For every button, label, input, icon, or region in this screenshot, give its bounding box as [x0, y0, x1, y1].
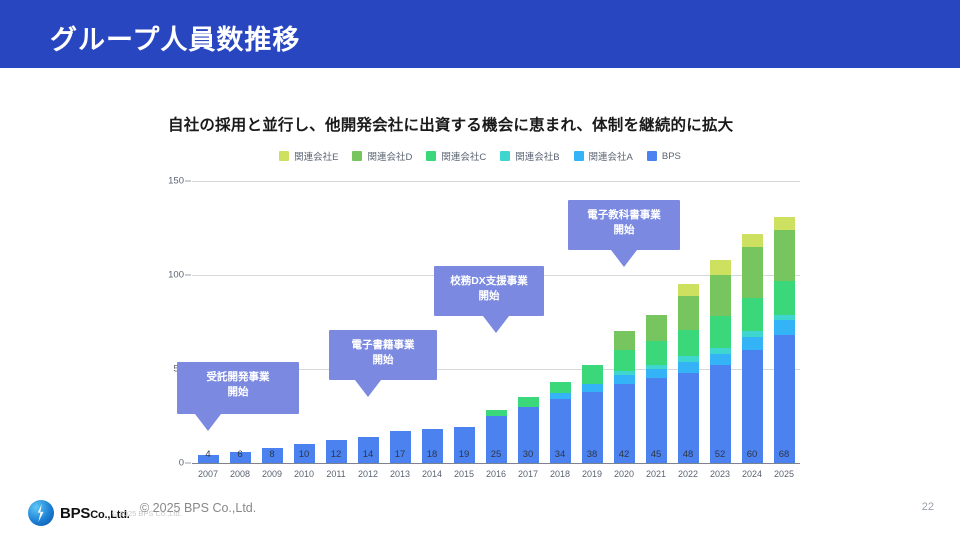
- x-axis-tick-label: 2023: [710, 469, 730, 479]
- stacked-bar[interactable]: 17: [390, 431, 411, 463]
- copyright-text: © 2025 BPS Co.,Ltd.: [140, 501, 260, 517]
- x-axis-tick-label: 2022: [678, 469, 698, 479]
- legend-item[interactable]: 関連会社D: [352, 149, 412, 163]
- legend-label: 関連会社A: [589, 149, 633, 163]
- bar-segment[interactable]: [742, 298, 763, 332]
- stacked-bar[interactable]: 34: [550, 382, 571, 463]
- bar-segment[interactable]: [742, 234, 763, 247]
- stacked-bar[interactable]: 25: [486, 410, 507, 463]
- legend-label: BPS: [662, 151, 681, 162]
- legend-label: 関連会社C: [441, 149, 486, 163]
- legend-item[interactable]: 関連会社C: [426, 149, 486, 163]
- bar-segment[interactable]: [774, 335, 795, 463]
- x-axis-tick-label: 2024: [742, 469, 762, 479]
- bar-segment[interactable]: [774, 320, 795, 335]
- bar-segment[interactable]: [454, 427, 475, 463]
- bar-segment[interactable]: [710, 260, 731, 275]
- chart-area: 050100150 420076200882009102010122011142…: [160, 170, 800, 490]
- stacked-bar[interactable]: 18: [422, 429, 443, 463]
- chart-subtitle: 自社の採用と並行し、他開発会社に出資する機会に恵まれ、体制を継続的に拡大: [168, 113, 733, 135]
- page-number: 22: [922, 501, 934, 513]
- x-axis-tick-label: 2020: [614, 469, 634, 479]
- annotation-pointer-icon: [611, 250, 637, 267]
- bar-column[interactable]: 302017: [512, 181, 544, 463]
- y-axis-tick-mark: [185, 181, 191, 182]
- bar-segment[interactable]: [614, 384, 635, 463]
- bar-segment[interactable]: [710, 316, 731, 348]
- x-axis-tick-label: 2016: [486, 469, 506, 479]
- stacked-bar[interactable]: 68: [774, 217, 795, 463]
- annotation-pointer-icon: [195, 414, 221, 431]
- legend-label: 関連会社E: [294, 149, 338, 163]
- bps-globe-icon: [28, 500, 54, 526]
- bar-column[interactable]: 522023: [704, 181, 736, 463]
- bar-segment[interactable]: [646, 369, 667, 378]
- stacked-bar[interactable]: 42: [614, 331, 635, 463]
- bar-segment[interactable]: [646, 341, 667, 365]
- bar-segment[interactable]: [422, 429, 443, 463]
- stacked-bar[interactable]: 45: [646, 315, 667, 463]
- x-axis-tick-label: 2025: [774, 469, 794, 479]
- x-axis-baseline: [192, 463, 800, 465]
- bar-column[interactable]: 102010: [288, 181, 320, 463]
- bar-segment[interactable]: [742, 247, 763, 298]
- bar-segment[interactable]: [582, 384, 603, 392]
- bar-segment[interactable]: [774, 281, 795, 315]
- annotation-callout: 電子書籍事業開始: [329, 330, 437, 380]
- bar-segment[interactable]: [582, 365, 603, 384]
- bar-segment[interactable]: [518, 397, 539, 406]
- y-axis-tick-mark: [185, 275, 191, 276]
- stacked-bar[interactable]: 8: [262, 448, 283, 463]
- bar-column[interactable]: 82009: [256, 181, 288, 463]
- bar-segment[interactable]: [742, 337, 763, 350]
- bar-column[interactable]: 62008: [224, 181, 256, 463]
- x-axis-tick-label: 2007: [198, 469, 218, 479]
- bar-segment[interactable]: [710, 354, 731, 365]
- annotation-line-1: 電子教科書事業: [587, 209, 661, 221]
- chart-legend: 関連会社E関連会社D関連会社C関連会社B関連会社ABPS: [160, 149, 800, 163]
- annotation-pointer-icon: [483, 316, 509, 333]
- logo-brand: BPS: [60, 505, 90, 522]
- stacked-bar[interactable]: 6: [230, 452, 251, 463]
- annotation-callout: 校務DX支援事業開始: [434, 266, 544, 316]
- bar-column[interactable]: 172013: [384, 181, 416, 463]
- bar-column[interactable]: 192015: [448, 181, 480, 463]
- bar-segment[interactable]: [326, 440, 347, 463]
- bar-segment[interactable]: [710, 365, 731, 463]
- bar-column[interactable]: 182014: [416, 181, 448, 463]
- annotation-callout: 受託開発事業開始: [177, 362, 299, 414]
- stacked-bar[interactable]: 14: [358, 437, 379, 463]
- x-axis-tick-label: 2010: [294, 469, 314, 479]
- y-axis-tick-label: 100: [168, 270, 184, 281]
- bar-segment[interactable]: [646, 315, 667, 341]
- x-axis-tick-label: 2019: [582, 469, 602, 479]
- bar-segment[interactable]: [390, 431, 411, 463]
- x-axis-tick-label: 2018: [550, 469, 570, 479]
- stacked-bar[interactable]: 12: [326, 440, 347, 463]
- bar-segment[interactable]: [582, 392, 603, 463]
- bar-segment[interactable]: [614, 375, 635, 384]
- stacked-bar[interactable]: 52: [710, 260, 731, 463]
- legend-item[interactable]: 関連会社A: [574, 149, 633, 163]
- bar-segment[interactable]: [614, 350, 635, 371]
- legend-swatch-icon: [279, 151, 289, 161]
- x-axis-tick-label: 2009: [262, 469, 282, 479]
- bar-segment[interactable]: [678, 284, 699, 295]
- x-axis-tick-label: 2014: [422, 469, 442, 479]
- stacked-bar[interactable]: 10: [294, 444, 315, 463]
- x-axis-tick-label: 2013: [390, 469, 410, 479]
- annotation-line-2: 開始: [335, 353, 431, 368]
- legend-label: 関連会社D: [367, 149, 412, 163]
- stacked-bar[interactable]: 30: [518, 397, 539, 463]
- x-axis-tick-label: 2008: [230, 469, 250, 479]
- legend-swatch-icon: [352, 151, 362, 161]
- bar-segment[interactable]: [774, 230, 795, 281]
- stacked-bar[interactable]: 19: [454, 427, 475, 463]
- x-axis-tick-label: 2021: [646, 469, 666, 479]
- legend-item[interactable]: BPS: [647, 151, 681, 162]
- bar-column[interactable]: 122011: [320, 181, 352, 463]
- bar-segment[interactable]: [678, 362, 699, 373]
- bar-segment[interactable]: [742, 350, 763, 463]
- bar-column[interactable]: 602024: [736, 181, 768, 463]
- bar-column[interactable]: 142012: [352, 181, 384, 463]
- bar-segment[interactable]: [550, 382, 571, 393]
- annotation-line-2: 開始: [440, 289, 538, 304]
- bar-segment[interactable]: [262, 448, 283, 463]
- x-axis-tick-label: 2011: [326, 469, 345, 479]
- bar-segment[interactable]: [230, 452, 251, 463]
- annotation-pointer-icon: [355, 380, 381, 397]
- y-axis-tick-mark: [185, 463, 191, 464]
- annotation-line-2: 開始: [183, 385, 293, 400]
- annotation-callout: 電子教科書事業開始: [568, 200, 680, 250]
- y-axis-tick-label: 0: [179, 458, 184, 469]
- bar-segment[interactable]: [614, 331, 635, 350]
- bar-segment[interactable]: [774, 217, 795, 230]
- stacked-bar[interactable]: 38: [582, 365, 603, 463]
- legend-item[interactable]: 関連会社B: [500, 149, 559, 163]
- legend-swatch-icon: [574, 151, 584, 161]
- legend-label: 関連会社B: [515, 149, 559, 163]
- annotation-line-2: 開始: [574, 223, 674, 238]
- bar-segment[interactable]: [518, 407, 539, 463]
- bar-segment[interactable]: [294, 444, 315, 463]
- x-axis-tick-label: 2012: [358, 469, 378, 479]
- page-title: グループ人員数推移: [50, 18, 300, 57]
- x-axis-tick-label: 2017: [518, 469, 538, 479]
- bar-segment[interactable]: [678, 296, 699, 330]
- bar-segment[interactable]: [710, 275, 731, 316]
- bar-segment[interactable]: [678, 373, 699, 463]
- bar-segment[interactable]: [646, 378, 667, 463]
- bar-column[interactable]: 682025: [768, 181, 800, 463]
- x-axis-tick-label: 2015: [454, 469, 474, 479]
- legend-swatch-icon: [500, 151, 510, 161]
- legend-item[interactable]: 関連会社E: [279, 149, 338, 163]
- bar-segment[interactable]: [678, 330, 699, 356]
- annotation-line-1: 校務DX支援事業: [450, 275, 528, 287]
- y-axis-tick-label: 150: [168, 176, 184, 187]
- legend-swatch-icon: [647, 151, 657, 161]
- annotation-line-1: 電子書籍事業: [352, 339, 415, 351]
- bar-segment[interactable]: [486, 416, 507, 463]
- stacked-bar[interactable]: 60: [742, 234, 763, 463]
- bar-segment[interactable]: [550, 399, 571, 463]
- stacked-bar[interactable]: 48: [678, 284, 699, 463]
- bar-segment[interactable]: [358, 437, 379, 463]
- legend-swatch-icon: [426, 151, 436, 161]
- annotation-line-1: 受託開発事業: [207, 371, 270, 383]
